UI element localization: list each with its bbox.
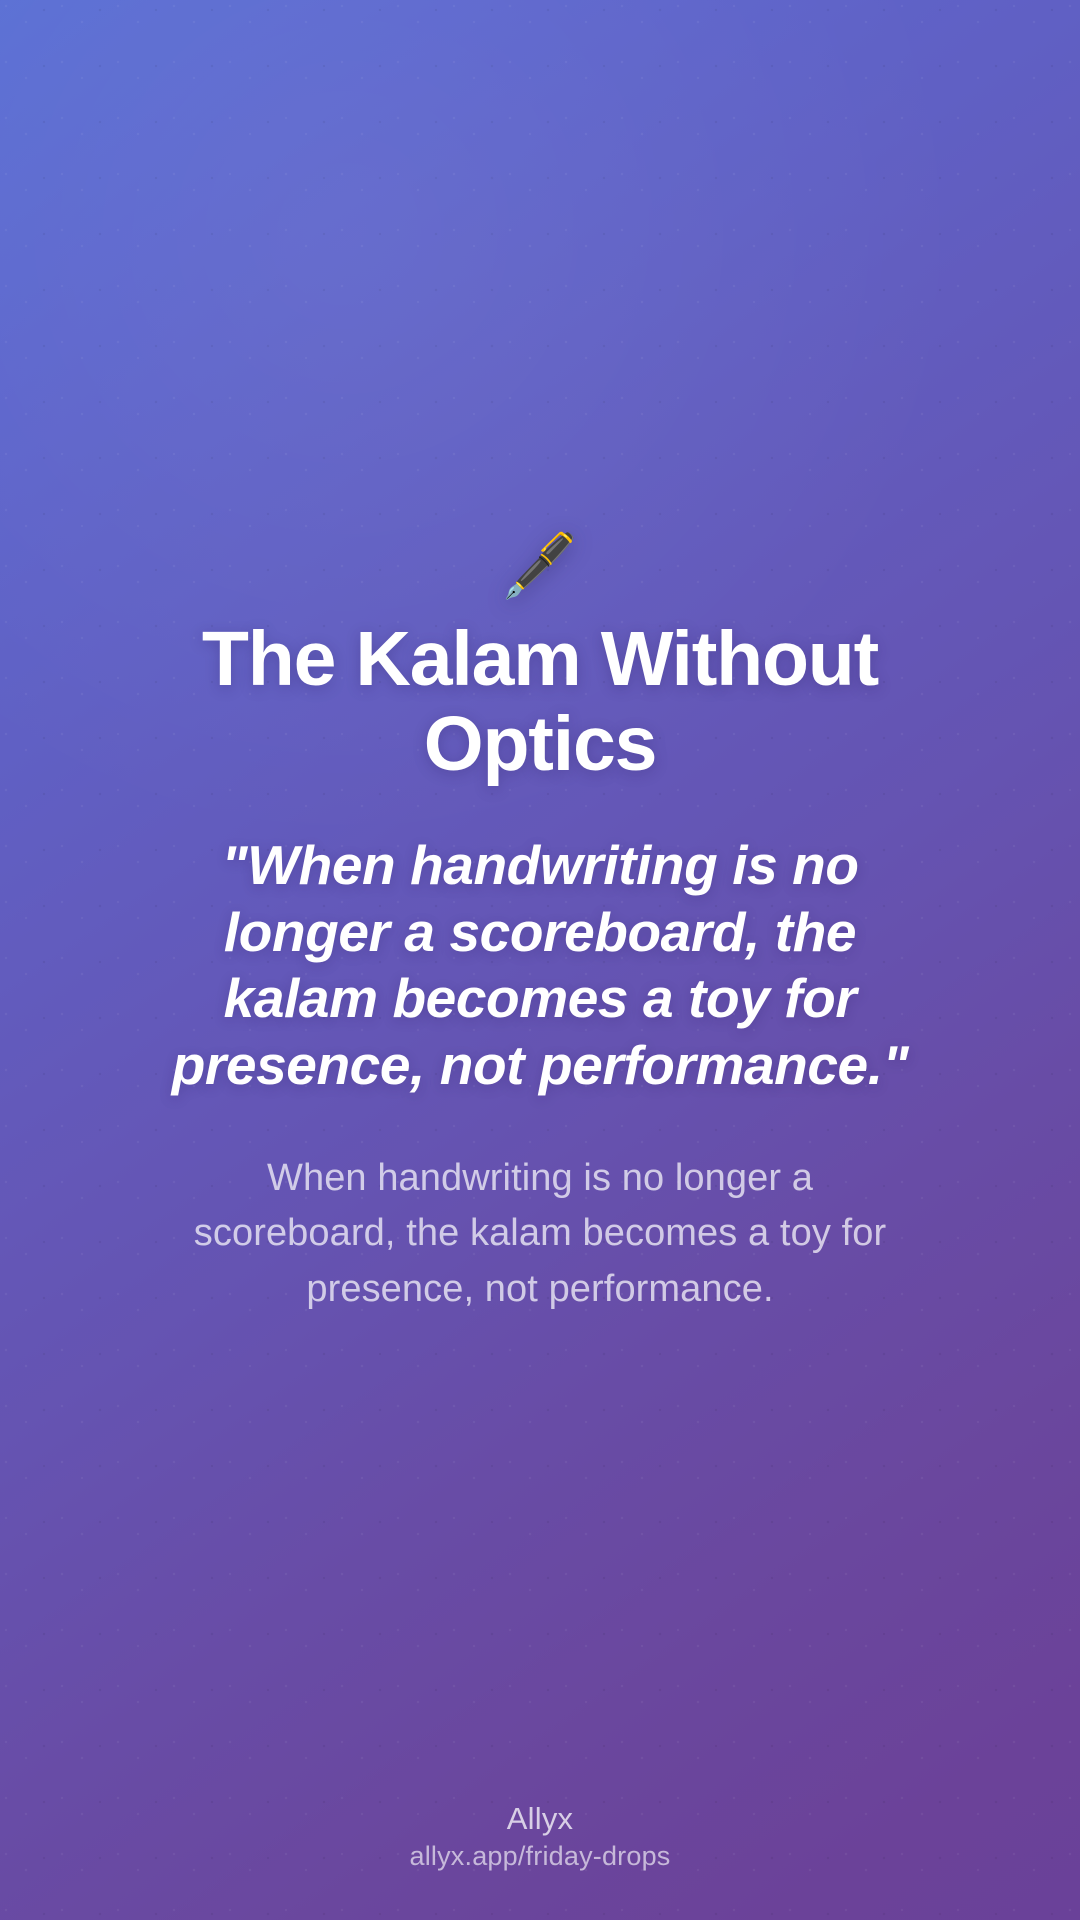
fountain-pen-icon: 🖋️ <box>501 535 578 597</box>
pull-quote: "When handwriting is no longer a scorebo… <box>145 832 935 1098</box>
icon-container: 🖋️ <box>501 523 578 609</box>
page-title: The Kalam Without Optics <box>150 617 930 786</box>
card-content: 🖋️ The Kalam Without Optics "When handwr… <box>0 0 1080 1920</box>
body-description: When handwriting is no longer a scoreboa… <box>190 1151 890 1319</box>
social-quote-card: 🖋️ The Kalam Without Optics "When handwr… <box>0 0 1080 1920</box>
